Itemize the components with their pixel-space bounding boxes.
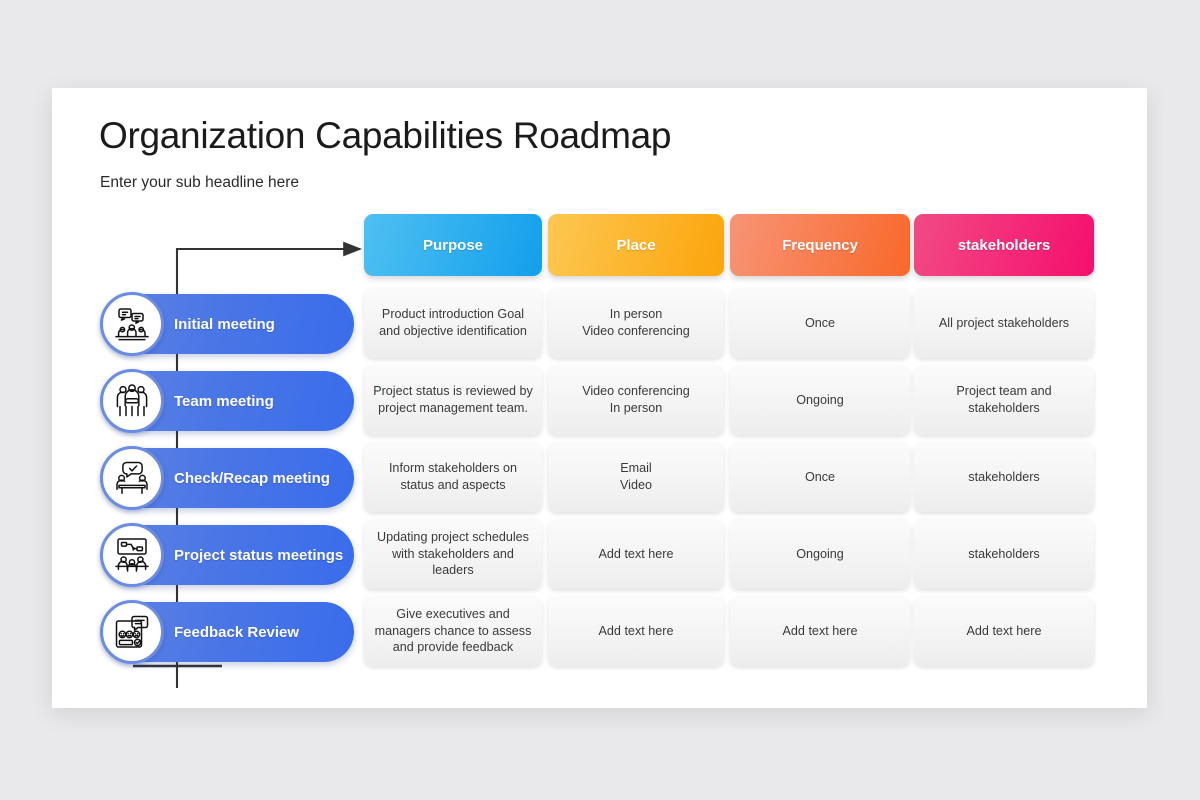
content-cell-text: Updating project schedules with stakehol… bbox=[377, 529, 529, 579]
content-cell-text: All project stakeholders bbox=[939, 315, 1069, 332]
content-cell[interactable]: Add text here bbox=[548, 596, 724, 666]
content-cell[interactable]: Project team and stakeholders bbox=[914, 365, 1094, 435]
roadmap-stage-label: Project status meetings bbox=[174, 525, 343, 585]
content-cell[interactable]: stakeholders bbox=[914, 442, 1094, 512]
content-cell-text: stakeholders bbox=[968, 469, 1039, 486]
content-cell-text: Ongoing bbox=[796, 546, 844, 563]
check-discussion-icon bbox=[100, 446, 164, 510]
content-cell[interactable]: Add text here bbox=[548, 519, 724, 589]
content-cell-text: stakeholders bbox=[968, 546, 1039, 563]
content-cell[interactable]: In person Video conferencing bbox=[548, 288, 724, 358]
content-cell-text: Once bbox=[805, 469, 835, 486]
roadmap-stage-label: Initial meeting bbox=[174, 294, 275, 354]
content-cell[interactable]: Add text here bbox=[914, 596, 1094, 666]
content-cell-text: Give executives and managers chance to a… bbox=[375, 606, 532, 656]
content-cell-text: Email Video bbox=[620, 460, 652, 493]
content-cell[interactable]: Once bbox=[730, 288, 910, 358]
page-subtitle: Enter your sub headline here bbox=[100, 174, 299, 192]
slide-canvas: Organization Capabilities Roadmap Enter … bbox=[52, 88, 1147, 708]
content-cell[interactable]: stakeholders bbox=[914, 519, 1094, 589]
content-cell-text: Project team and stakeholders bbox=[956, 383, 1051, 416]
content-cell[interactable]: Updating project schedules with stakehol… bbox=[364, 519, 542, 589]
content-cell-text: Add text here bbox=[783, 623, 858, 640]
roadmap-stage-pill[interactable]: Team meeting bbox=[102, 371, 354, 431]
content-cell-text: Video conferencing In person bbox=[582, 383, 690, 416]
content-cell[interactable]: Add text here bbox=[730, 596, 910, 666]
roadmap-stage-label: Check/Recap meeting bbox=[174, 448, 330, 508]
content-cell[interactable]: Give executives and managers chance to a… bbox=[364, 596, 542, 666]
content-cell[interactable]: Video conferencing In person bbox=[548, 365, 724, 435]
content-cell-text: Add text here bbox=[599, 546, 674, 563]
roadmap-stage-label: Team meeting bbox=[174, 371, 274, 431]
content-cell[interactable]: Ongoing bbox=[730, 365, 910, 435]
content-cell[interactable]: Ongoing bbox=[730, 519, 910, 589]
page-title: Organization Capabilities Roadmap bbox=[99, 115, 671, 157]
content-cell-text: Project status is reviewed by project ma… bbox=[373, 383, 533, 416]
column-header-purpose[interactable]: Purpose bbox=[364, 214, 542, 276]
content-cell[interactable]: Product introduction Goal and objective … bbox=[364, 288, 542, 358]
column-header-place[interactable]: Place bbox=[548, 214, 724, 276]
roadmap-stage-pill[interactable]: Feedback Review bbox=[102, 602, 354, 662]
feedback-clipboard-icon bbox=[100, 600, 164, 664]
column-header-frequency[interactable]: Frequency bbox=[730, 214, 910, 276]
content-cell-text: Ongoing bbox=[796, 392, 844, 409]
content-cell-text: Inform stakeholders on status and aspect… bbox=[389, 460, 517, 493]
content-cell[interactable]: Inform stakeholders on status and aspect… bbox=[364, 442, 542, 512]
roadmap-stage-pill[interactable]: Check/Recap meeting bbox=[102, 448, 354, 508]
roadmap-stage-label: Feedback Review bbox=[174, 602, 299, 662]
content-cell-text: Once bbox=[805, 315, 835, 332]
content-cell-text: In person Video conferencing bbox=[582, 306, 690, 339]
content-cell-text: Add text here bbox=[967, 623, 1042, 640]
content-cell[interactable]: Once bbox=[730, 442, 910, 512]
content-cell[interactable]: All project stakeholders bbox=[914, 288, 1094, 358]
content-cell[interactable]: Project status is reviewed by project ma… bbox=[364, 365, 542, 435]
content-cell-text: Add text here bbox=[599, 623, 674, 640]
column-header-stakeholders[interactable]: stakeholders bbox=[914, 214, 1094, 276]
content-cell[interactable]: Email Video bbox=[548, 442, 724, 512]
project-board-icon bbox=[100, 523, 164, 587]
content-cell-text: Product introduction Goal and objective … bbox=[379, 306, 527, 339]
roadmap-stage-pill[interactable]: Initial meeting bbox=[102, 294, 354, 354]
meeting-presentation-icon bbox=[100, 292, 164, 356]
team-group-icon bbox=[100, 369, 164, 433]
roadmap-stage-pill[interactable]: Project status meetings bbox=[102, 525, 354, 585]
